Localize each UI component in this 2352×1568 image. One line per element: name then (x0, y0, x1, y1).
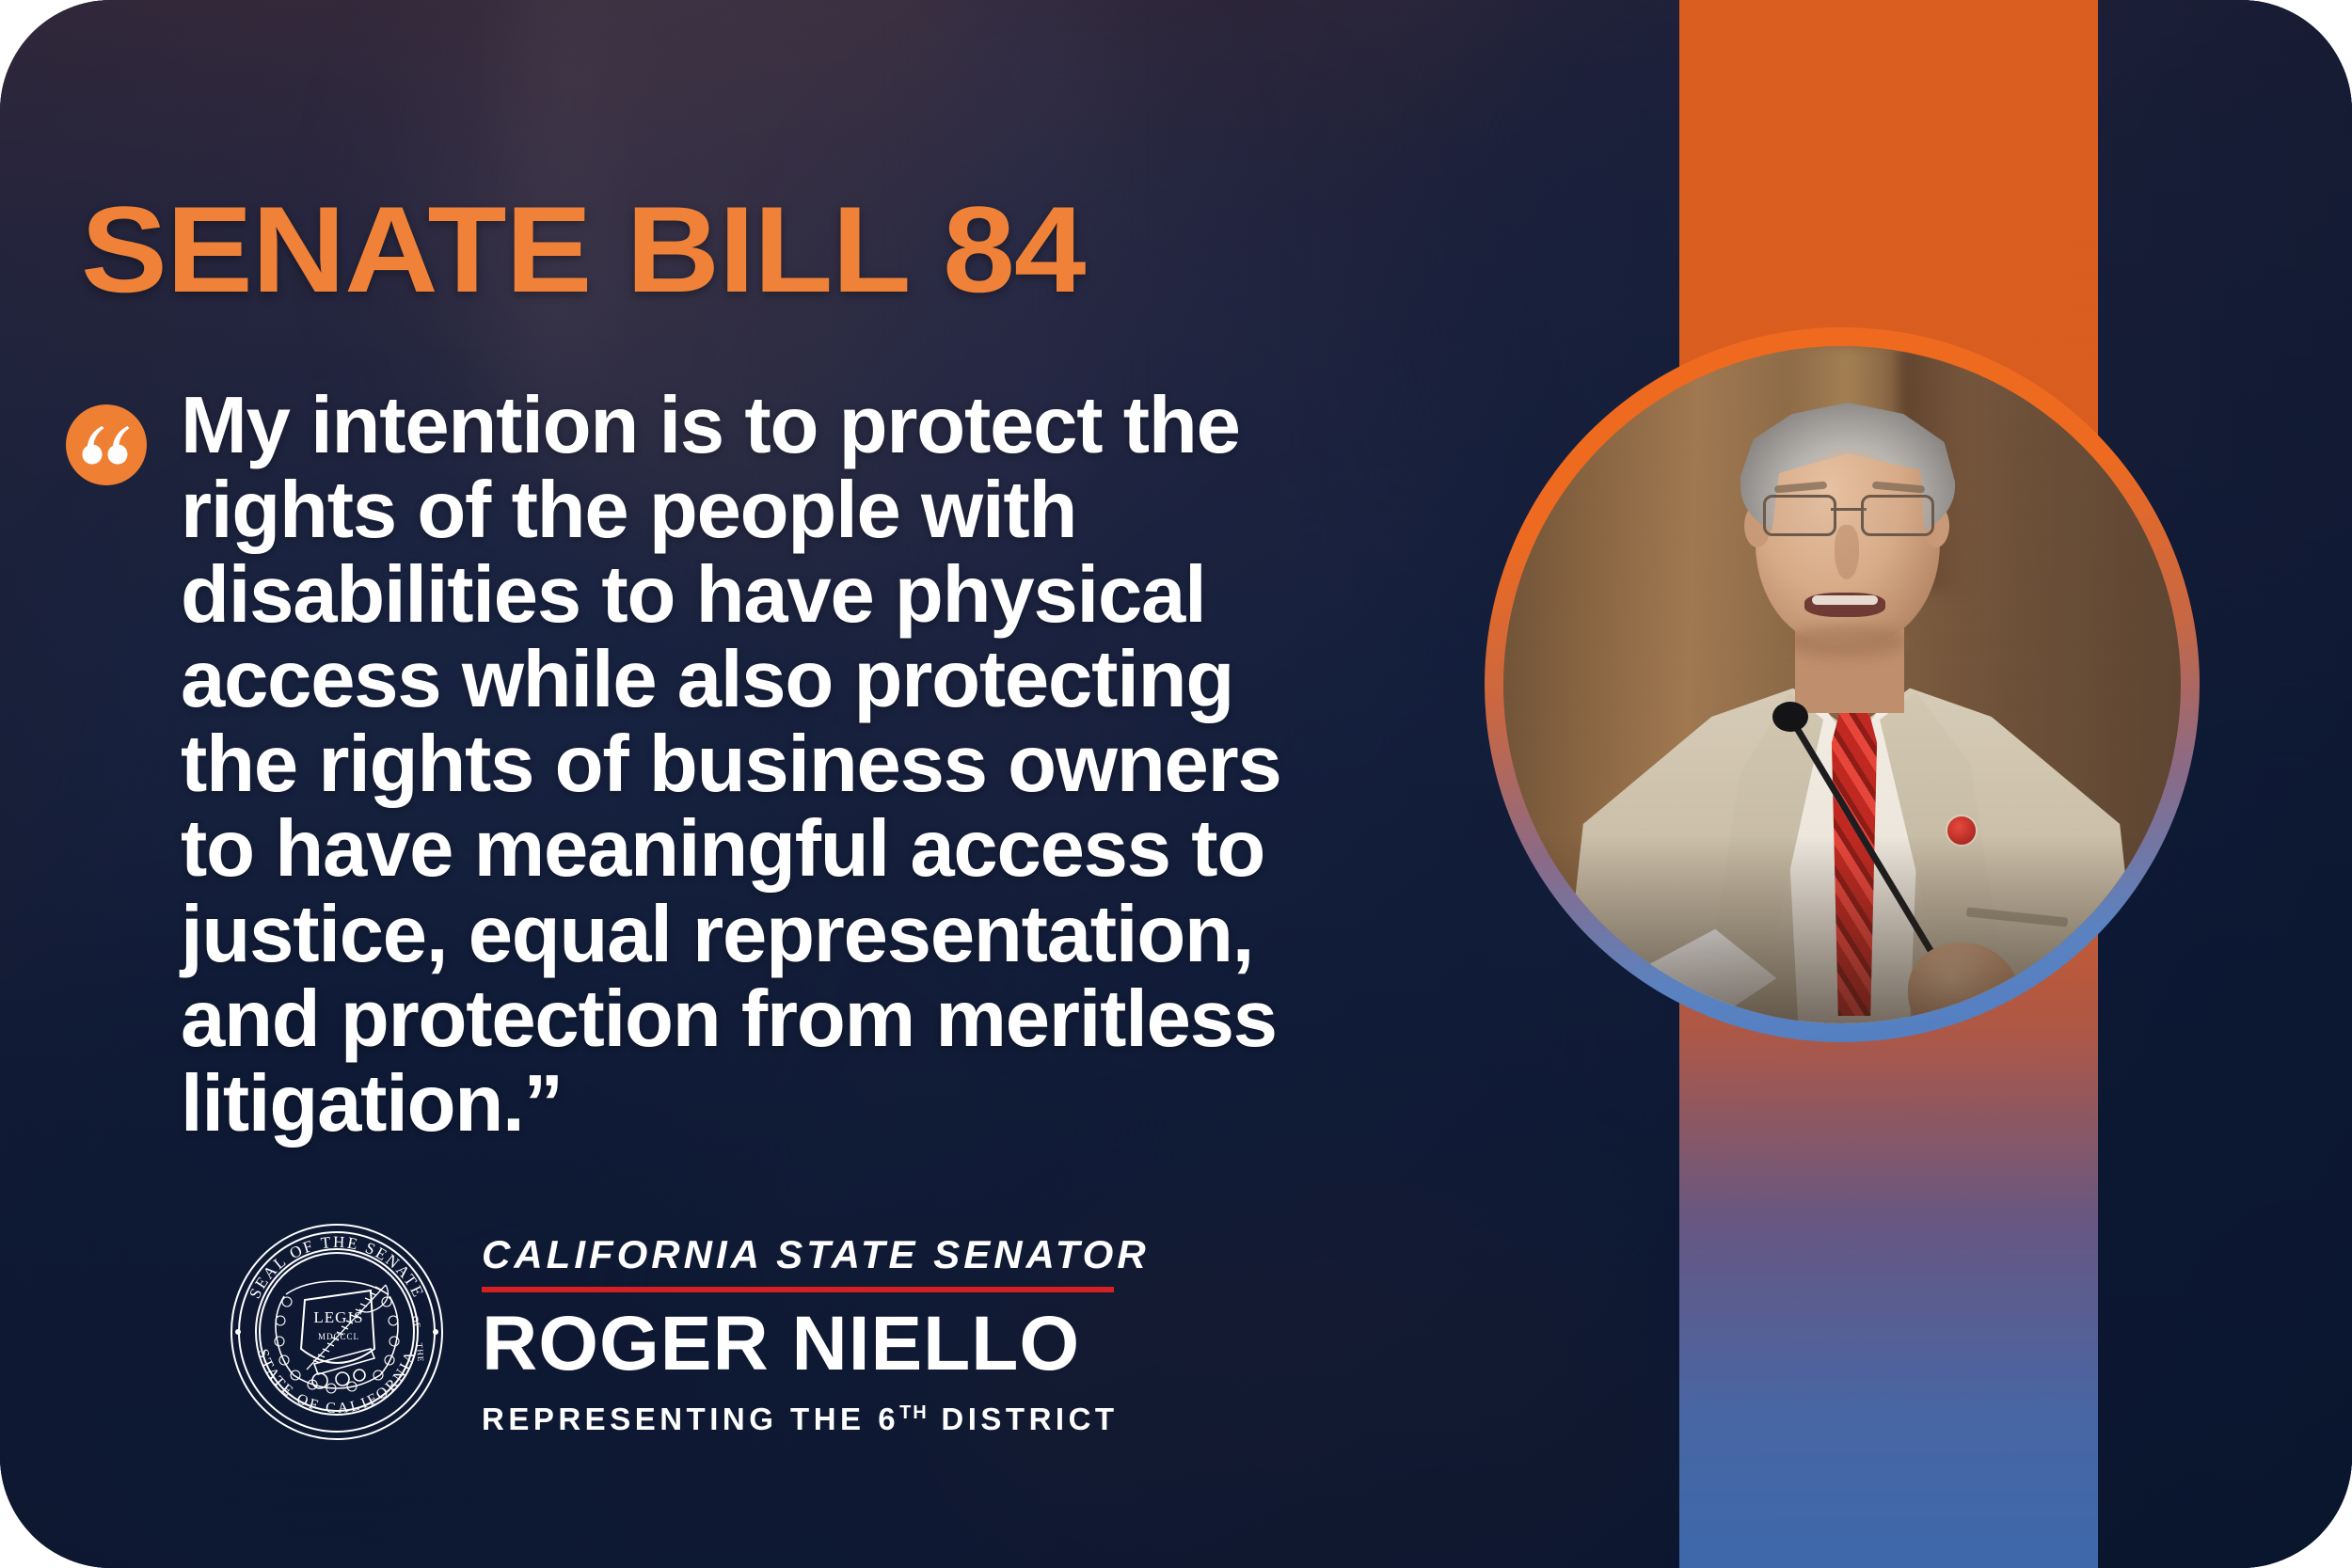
quote-text: My intention is to protect the rights of… (181, 384, 1458, 1147)
svg-text:OF: OF (410, 1315, 422, 1330)
district-label: REPRESENTING THE 6TH DISTRICT (482, 1402, 1150, 1437)
portrait-ring (1485, 327, 2200, 1042)
svg-text:SEAL OF THE SENATE: SEAL OF THE SENATE (246, 1233, 428, 1302)
quote-line: the rights of business owners (181, 722, 1458, 807)
quote-line: justice, equal representation, (181, 893, 1458, 977)
svg-text:THE: THE (415, 1342, 425, 1362)
quote-open-icon (66, 404, 147, 485)
california-senate-seal-icon: SEAL OF THE SENATE STATE OF CALIFORNIA O… (228, 1223, 446, 1441)
quote-line: disabilities to have physical (181, 553, 1458, 638)
senator-portrait-photo (1503, 346, 2181, 1023)
quote-line: litigation.” (181, 1062, 1458, 1147)
signature-text: CALIFORNIA STATE SENATOR ROGER NIELLO RE… (482, 1227, 1150, 1437)
quote-line: My intention is to protect the (181, 384, 1458, 468)
district-suffix: DISTRICT (929, 1402, 1119, 1436)
signature-divider (482, 1287, 1114, 1292)
senator-name: ROGER NIELLO (482, 1306, 1150, 1383)
signature-lockup: SEAL OF THE SENATE STATE OF CALIFORNIA O… (228, 1223, 1150, 1441)
district-prefix: REPRESENTING THE 6 (482, 1402, 899, 1436)
page-title: SENATE BILL 84 (81, 188, 1085, 310)
quote-line: and protection from meritless (181, 977, 1458, 1062)
district-ordinal: TH (899, 1402, 929, 1423)
quote-line: access while also protecting (181, 638, 1458, 722)
quote-line: to have meaningful access to (181, 807, 1458, 892)
photo-grain (1503, 346, 2181, 1023)
quote-line: rights of the people with (181, 468, 1458, 553)
senator-role-label: CALIFORNIA STATE SENATOR (482, 1232, 1150, 1277)
quote-graphic-card: SENATE BILL 84 My intention is to protec… (0, 0, 2352, 1568)
quote-block: My intention is to protect the rights of… (66, 384, 1458, 1147)
